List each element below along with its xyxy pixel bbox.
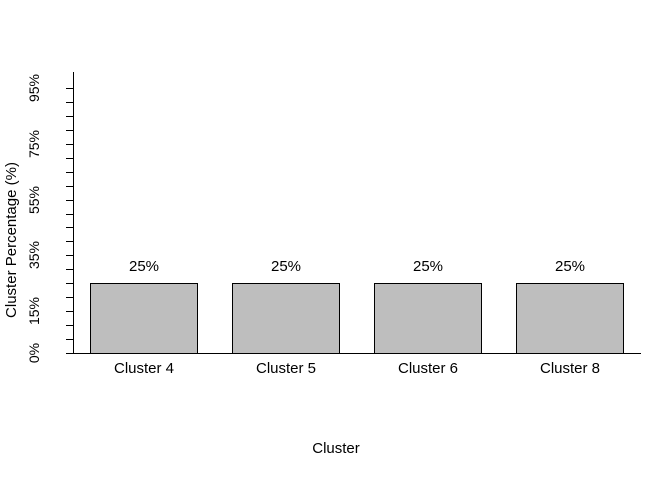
y-axis-tick-major	[66, 144, 73, 145]
y-axis-tick-minor	[66, 172, 73, 173]
y-axis-tick-label: 35%	[25, 225, 43, 285]
y-axis-tick-minor	[66, 102, 73, 103]
y-axis-tick-minor	[66, 116, 73, 117]
y-axis-tick-minor	[66, 339, 73, 340]
bar-value-label: 25%	[368, 258, 488, 275]
bar	[374, 283, 482, 354]
y-axis-tick-major	[66, 200, 73, 201]
x-axis-title: Cluster	[0, 440, 672, 457]
bar-value-label: 25%	[84, 258, 204, 275]
bar-value-label: 25%	[510, 258, 630, 275]
y-axis-tick-minor	[66, 186, 73, 187]
y-axis-line	[73, 72, 74, 354]
bar	[90, 283, 198, 354]
x-axis-category-label: Cluster 6	[358, 360, 498, 377]
y-axis-tick-minor	[66, 269, 73, 270]
y-axis-tick-label: 95%	[25, 58, 43, 118]
y-axis-tick-minor	[66, 214, 73, 215]
bar-chart: Cluster Percentage (%) Cluster 0%15%35%5…	[0, 0, 672, 480]
y-axis-tick-minor	[66, 227, 73, 228]
y-axis-title: Cluster Percentage (%)	[0, 0, 24, 480]
y-axis-tick-minor	[66, 283, 73, 284]
y-axis-tick-major	[66, 88, 73, 89]
y-axis-tick-major	[66, 311, 73, 312]
y-axis-tick-minor	[66, 241, 73, 242]
bar	[232, 283, 340, 354]
bar-value-label: 25%	[226, 258, 346, 275]
y-axis-tick-major	[66, 255, 73, 256]
y-axis-tick-label: 55%	[25, 170, 43, 230]
y-axis-tick-label: 75%	[25, 114, 43, 174]
y-axis-tick-major	[66, 353, 73, 354]
x-axis-category-label: Cluster 8	[500, 360, 640, 377]
y-axis-tick-minor	[66, 130, 73, 131]
y-axis-tick-minor	[66, 158, 73, 159]
x-axis-category-label: Cluster 4	[74, 360, 214, 377]
y-axis-tick-label: 15%	[25, 281, 43, 341]
bar	[516, 283, 624, 354]
y-axis-tick-minor	[66, 325, 73, 326]
x-axis-category-label: Cluster 5	[216, 360, 356, 377]
y-axis-tick-minor	[66, 297, 73, 298]
